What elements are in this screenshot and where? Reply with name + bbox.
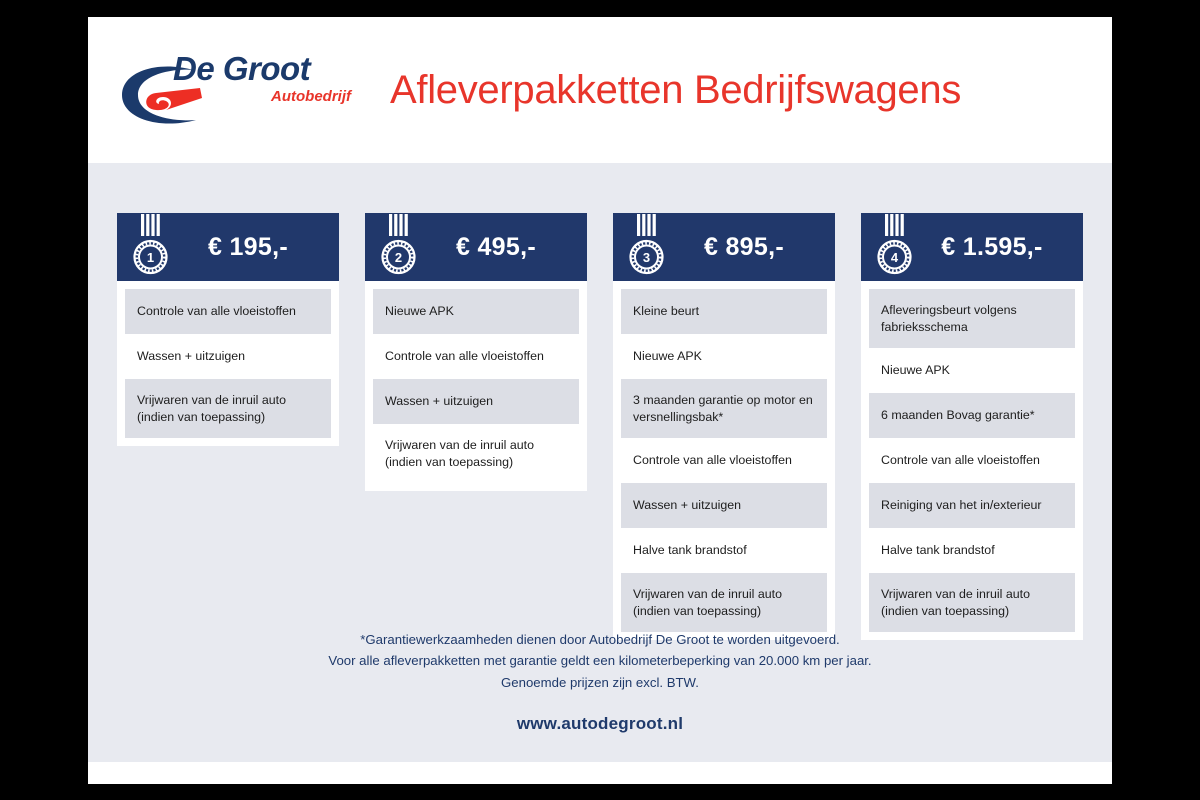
medal-icon: 1 [131, 214, 171, 280]
page-title: Afleverpakketten Bedrijfswagens [390, 68, 961, 113]
logo-subtitle: Autobedrijf [173, 89, 353, 104]
bottom-white-strip [88, 762, 1112, 784]
svg-text:4: 4 [891, 250, 899, 265]
feature-row: Nieuwe APK [869, 348, 1075, 393]
footer-line: *Garantiewerkzaamheden dienen door Autob… [88, 629, 1112, 651]
package-card-header: 2€ 495,- [365, 213, 587, 281]
package-card[interactable]: 3€ 895,-Kleine beurtNieuwe APK3 maanden … [613, 213, 835, 640]
medal-icon: 4 [875, 214, 915, 280]
package-price: € 895,- [667, 233, 827, 262]
svg-text:1: 1 [147, 250, 154, 265]
package-feature-list: Afleveringsbeurt volgens fabrieksschemaN… [861, 281, 1083, 640]
footer-disclaimer: *Garantiewerkzaamheden dienen door Autob… [88, 629, 1112, 694]
feature-row: 3 maanden garantie op motor en versnelli… [621, 379, 827, 438]
poster-canvas: De Groot Autobedrijf Afleverpakketten Be… [88, 17, 1112, 784]
logo-wordmark: De Groot Autobedrijf [173, 52, 353, 104]
company-logo: De Groot Autobedrijf [116, 50, 348, 130]
package-card-header: 4€ 1.595,- [861, 213, 1083, 281]
content-panel: 1€ 195,-Controle van alle vloeistoffenWa… [88, 163, 1112, 762]
package-feature-list: Controle van alle vloeistoffenWassen + u… [117, 281, 339, 446]
package-card-list: 1€ 195,-Controle van alle vloeistoffenWa… [108, 163, 1092, 640]
package-price: € 1.595,- [915, 233, 1075, 262]
feature-row: Nieuwe APK [373, 289, 579, 334]
feature-row: Vrijwaren van de inruil auto (indien van… [373, 424, 579, 483]
svg-text:3: 3 [643, 250, 650, 265]
website-url-link[interactable]: www.autodegroot.nl [88, 714, 1112, 734]
footer-line: Voor alle afleverpakketten met garantie … [88, 650, 1112, 672]
feature-row: Wassen + uitzuigen [125, 334, 331, 379]
package-feature-list: Kleine beurtNieuwe APK3 maanden garantie… [613, 281, 835, 640]
feature-row: Controle van alle vloeistoffen [125, 289, 331, 334]
feature-row: Reiniging van het in/exterieur [869, 483, 1075, 528]
feature-row: Vrijwaren van de inruil auto (indien van… [621, 573, 827, 632]
feature-row: Nieuwe APK [621, 334, 827, 379]
package-price: € 195,- [171, 233, 331, 262]
footer-line: Genoemde prijzen zijn excl. BTW. [88, 672, 1112, 694]
package-card-header: 3€ 895,- [613, 213, 835, 281]
package-feature-list: Nieuwe APKControle van alle vloeistoffen… [365, 281, 587, 491]
feature-row: Controle van alle vloeistoffen [621, 438, 827, 483]
package-card[interactable]: 2€ 495,-Nieuwe APKControle van alle vloe… [365, 213, 587, 491]
feature-row: Wassen + uitzuigen [621, 483, 827, 528]
feature-row: Afleveringsbeurt volgens fabrieksschema [869, 289, 1075, 348]
feature-row: Controle van alle vloeistoffen [869, 438, 1075, 483]
poster-header: De Groot Autobedrijf Afleverpakketten Be… [88, 17, 1112, 163]
svg-text:2: 2 [395, 250, 402, 265]
package-price: € 495,- [419, 233, 579, 262]
medal-icon: 2 [379, 214, 419, 280]
medal-icon: 3 [627, 214, 667, 280]
feature-row: Halve tank brandstof [869, 528, 1075, 573]
feature-row: Wassen + uitzuigen [373, 379, 579, 424]
package-card[interactable]: 4€ 1.595,-Afleveringsbeurt volgens fabri… [861, 213, 1083, 640]
poster-footer: *Garantiewerkzaamheden dienen door Autob… [88, 629, 1112, 734]
feature-row: Vrijwaren van de inruil auto (indien van… [125, 379, 331, 438]
package-card-header: 1€ 195,- [117, 213, 339, 281]
feature-row: Kleine beurt [621, 289, 827, 334]
feature-row: 6 maanden Bovag garantie* [869, 393, 1075, 438]
feature-row: Controle van alle vloeistoffen [373, 334, 579, 379]
feature-row: Vrijwaren van de inruil auto (indien van… [869, 573, 1075, 632]
feature-row: Halve tank brandstof [621, 528, 827, 573]
logo-title: De Groot [173, 52, 353, 85]
package-card[interactable]: 1€ 195,-Controle van alle vloeistoffenWa… [117, 213, 339, 446]
